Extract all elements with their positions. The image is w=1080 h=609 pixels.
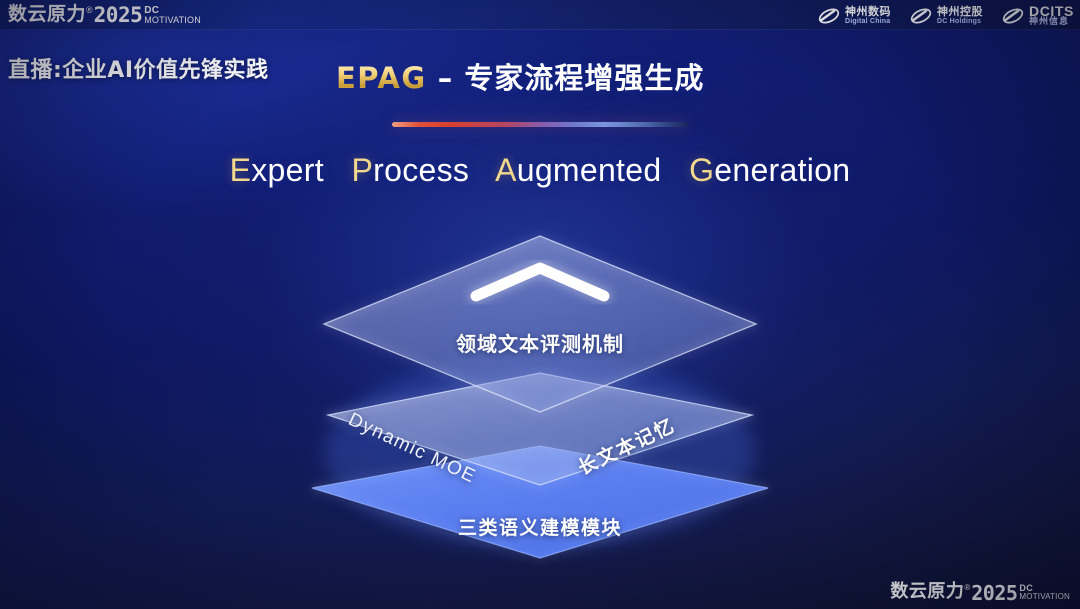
title-subtitle-cn: – 专家流程增强生成 (427, 61, 705, 95)
partner-name-en: Digital China (845, 18, 891, 25)
title-divider (392, 122, 688, 127)
partner-name-en: DC Holdings (937, 18, 983, 25)
brand-year: 2025 (971, 583, 1017, 603)
brand-motivation-text: MOTIVATION (1019, 593, 1070, 601)
partner-name-en: DCITS (1029, 4, 1074, 18)
acronym-cap: G (689, 152, 714, 188)
brand-name-cn: 数云原力 (890, 583, 964, 601)
space (478, 152, 487, 188)
partner-logo-digital-china: 神州数码 Digital China (817, 5, 891, 27)
acronym-cap: E (230, 152, 252, 188)
layered-architecture-diagram: 领域文本评测机制 Dynamic MOE 长文本记忆 三类语义建模模块 (290, 228, 790, 573)
brand-name-cn: 数云原力 (8, 5, 86, 24)
swoosh-icon (1001, 5, 1025, 27)
partner-name-cn: 神州数码 (845, 6, 891, 18)
page-title: EPAG – 专家流程增强生成 (336, 55, 704, 97)
acronym-rest: xpert (251, 152, 324, 188)
swoosh-icon (909, 5, 933, 27)
acronym-word-generation: Generation (689, 152, 850, 188)
partner-logo-dc-holdings: 神州控股 DC Holdings (909, 5, 983, 27)
acronym-cap: P (352, 152, 374, 188)
stack-svg (290, 228, 790, 573)
acronym-word-expert: Expert (230, 152, 324, 188)
partner-label: 神州数码 Digital China (845, 6, 891, 25)
brand-registered-mark: ® (964, 583, 970, 592)
brand-logo-watermark: 数云原力 ® 2025 DC MOTIVATION (890, 583, 1070, 603)
partner-name-cn: 神州信息 (1029, 18, 1074, 27)
space (671, 152, 680, 188)
acronym-rest: rocess (373, 152, 469, 188)
acronym-rest: eneration (714, 152, 850, 188)
brand-dc-motivation: DC MOTIVATION (144, 5, 201, 25)
brand-registered-mark: ® (86, 5, 93, 15)
swoosh-icon (817, 5, 841, 27)
partner-logo-dcits: DCITS 神州信息 (1001, 4, 1074, 27)
brand-year: 2025 (94, 5, 143, 26)
acronym-rest: ugmented (517, 152, 662, 188)
title-accent-epag: EPAG (336, 61, 427, 95)
partner-label: 神州控股 DC Holdings (937, 6, 983, 25)
acronym-cap: A (495, 152, 517, 188)
brand-motivation-text: MOTIVATION (144, 16, 201, 25)
acronym-expansion: Expert Process Augmented Generation (0, 152, 1080, 189)
acronym-word-augmented: Augmented (495, 152, 661, 188)
partner-label: DCITS 神州信息 (1029, 4, 1074, 27)
partner-logo-group: 神州数码 Digital China 神州控股 DC Holdings DCIT… (817, 4, 1074, 27)
brand-logo-top: 数云原力 ® 2025 DC MOTIVATION (8, 5, 201, 26)
slide-canvas: 数云原力 ® 2025 DC MOTIVATION 神州数码 Digital C… (0, 0, 1080, 609)
partner-name-cn: 神州控股 (937, 6, 983, 18)
brand-dc-motivation: DC MOTIVATION (1019, 583, 1070, 601)
live-stream-label: 直播:企业AI价值先锋实践 (8, 52, 269, 84)
space (333, 152, 342, 188)
acronym-word-process: Process (352, 152, 470, 188)
